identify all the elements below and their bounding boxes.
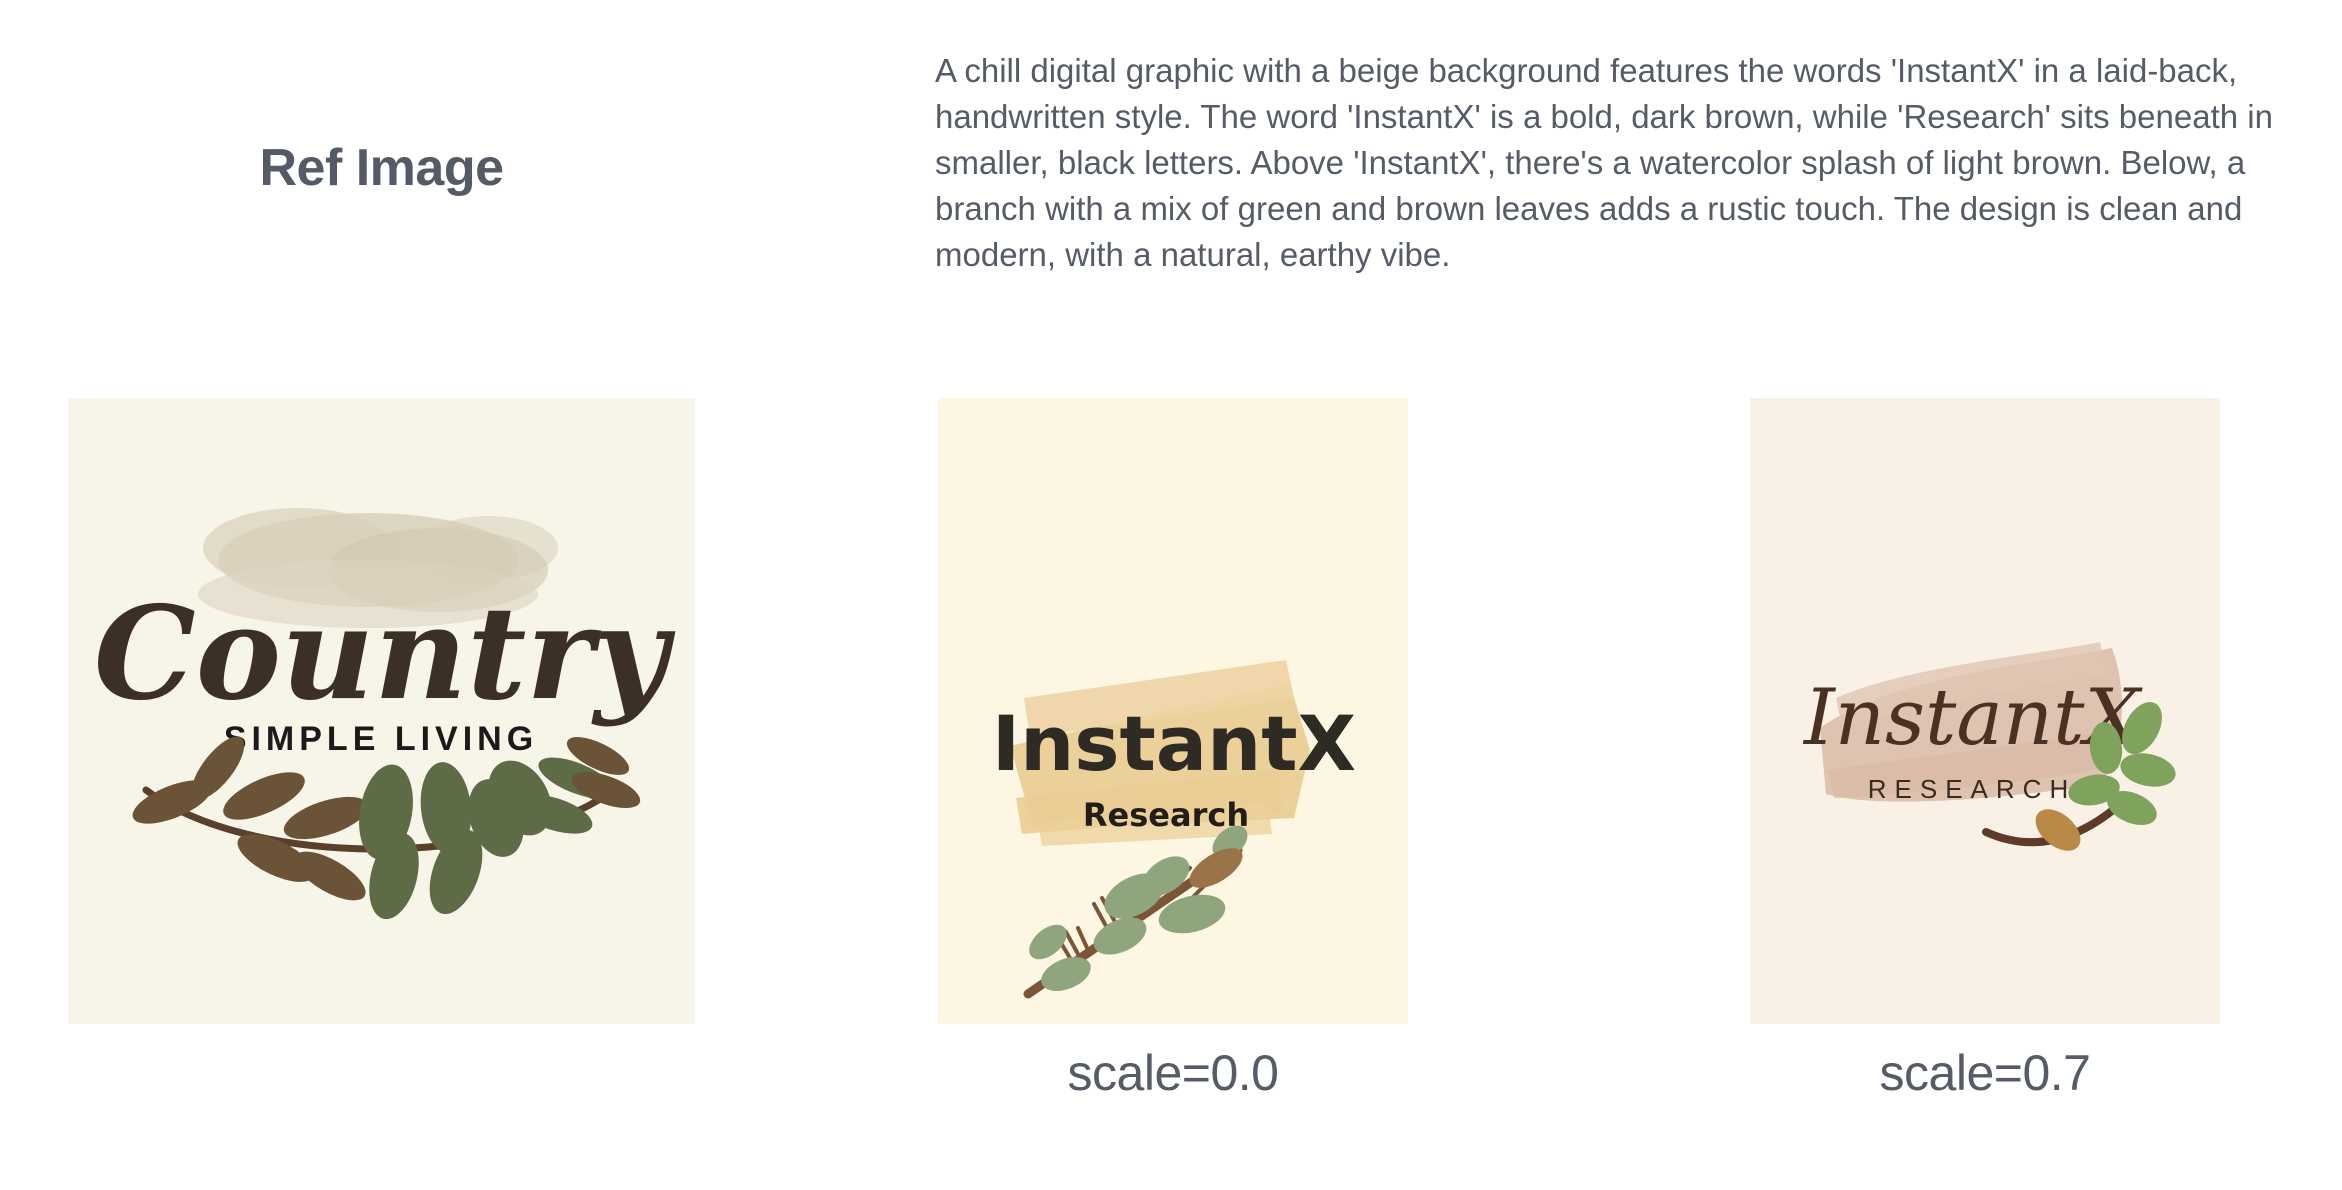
logo-tagline: SIMPLE LIVING — [224, 720, 538, 758]
image-description: A chill digital graphic with a beige bac… — [935, 48, 2325, 278]
logo-wordmark: InstantX — [992, 699, 1356, 788]
instantx-research-logo-flat: InstantX Research — [938, 398, 1408, 1024]
logo-tagline: Research — [1083, 796, 1249, 834]
panel-caption-scale-07: scale=0.7 — [1750, 1044, 2220, 1102]
logo-tagline: RESEARCH — [1868, 774, 2076, 804]
page-title: Ref Image — [68, 138, 695, 198]
generated-image-panel-scale-0: InstantX Research — [938, 398, 1408, 1024]
logo-wordmark: Country — [94, 579, 676, 729]
panel-caption-scale-0: scale=0.0 — [938, 1044, 1408, 1102]
country-simple-living-logo: Country SIMPLE LIVING — [68, 398, 695, 1024]
comparison-page: Ref Image A chill digital graphic with a… — [0, 0, 2342, 1190]
reference-image-panel: Country SIMPLE LIVING — [68, 398, 695, 1024]
generated-image-panel-scale-07: InstantX RESEARCH — [1750, 398, 2220, 1024]
instantx-research-logo-styled: InstantX RESEARCH — [1750, 398, 2220, 1024]
